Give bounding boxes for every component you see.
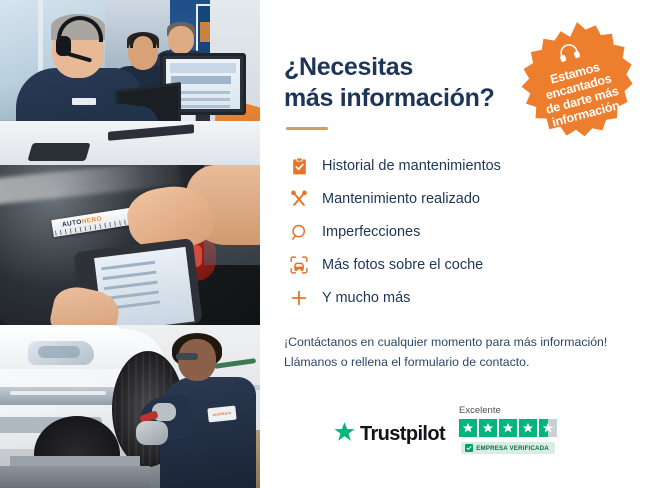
trustpilot-block: Trustpilot Excelente EMPRESA VERIFICADA	[260, 405, 650, 454]
content-panel: ¿Necesitas más información? Estamos enca…	[260, 0, 650, 488]
check-square-icon	[465, 444, 473, 452]
heading-line-2: más información?	[284, 84, 495, 112]
star-filled	[519, 419, 537, 437]
contact-copy: ¡Contáctanos en cualquier momento para m…	[284, 332, 624, 373]
feature-item-maintenance-history: Historial de mantenimientos	[284, 150, 624, 182]
photo-column: AUTOHERO autohero	[0, 0, 260, 488]
feature-label: Más fotos sobre el coche	[322, 257, 483, 273]
promo-card: AUTOHERO autohero ¿Necesitas más inf	[0, 0, 650, 488]
feature-label: Imperfecciones	[322, 224, 420, 240]
support-badge: Estamos encantados de darte más informac…	[519, 22, 635, 138]
plus-icon	[284, 288, 314, 308]
feature-item-much-more: Y mucho más	[284, 282, 624, 314]
contact-line-1: ¡Contáctanos en cualquier momento para m…	[284, 332, 624, 352]
magnifier-icon	[284, 223, 314, 242]
feature-list: Historial de mantenimientos Mantenimient…	[284, 150, 624, 314]
trustpilot-star-icon	[333, 421, 356, 448]
feature-label: Historial de mantenimientos	[322, 158, 501, 174]
star-filled	[499, 419, 517, 437]
call-center-agents-photo	[0, 0, 260, 165]
clipboard-check-icon	[284, 157, 314, 176]
car-frame-photo-icon	[284, 255, 314, 275]
heading-line-1: ¿Necesitas	[284, 53, 413, 81]
trustpilot-wordmark: Trustpilot	[360, 423, 445, 446]
trustpilot-logo: Trustpilot	[333, 421, 445, 448]
contact-line-2: Llámanos o rellena el formulario de cont…	[284, 352, 624, 372]
verified-label: EMPRESA VERIFICADA	[476, 445, 549, 452]
rating-label: Excelente	[459, 405, 501, 416]
star-half	[539, 419, 557, 437]
feature-item-more-photos: Más fotos sobre el coche	[284, 249, 624, 281]
star-filled	[459, 419, 477, 437]
star-filled	[479, 419, 497, 437]
star-rating	[459, 419, 557, 437]
verified-badge: EMPRESA VERIFICADA	[461, 442, 555, 454]
feature-label: Mantenimiento realizado	[322, 191, 480, 207]
tools-cross-icon	[284, 189, 314, 209]
title-divider	[286, 127, 328, 130]
feature-label: Y mucho más	[322, 290, 410, 306]
page-title: ¿Necesitas más información?	[284, 52, 514, 113]
vehicle-inspection-ruler-photo: AUTOHERO	[0, 165, 260, 325]
trustpilot-rating: Excelente EMPRESA VERIFICADA	[459, 405, 557, 454]
feature-item-imperfections: Imperfecciones	[284, 216, 624, 248]
workshop-wheel-check-photo: autohero	[0, 325, 260, 488]
feature-item-maintenance-done: Mantenimiento realizado	[284, 183, 624, 215]
